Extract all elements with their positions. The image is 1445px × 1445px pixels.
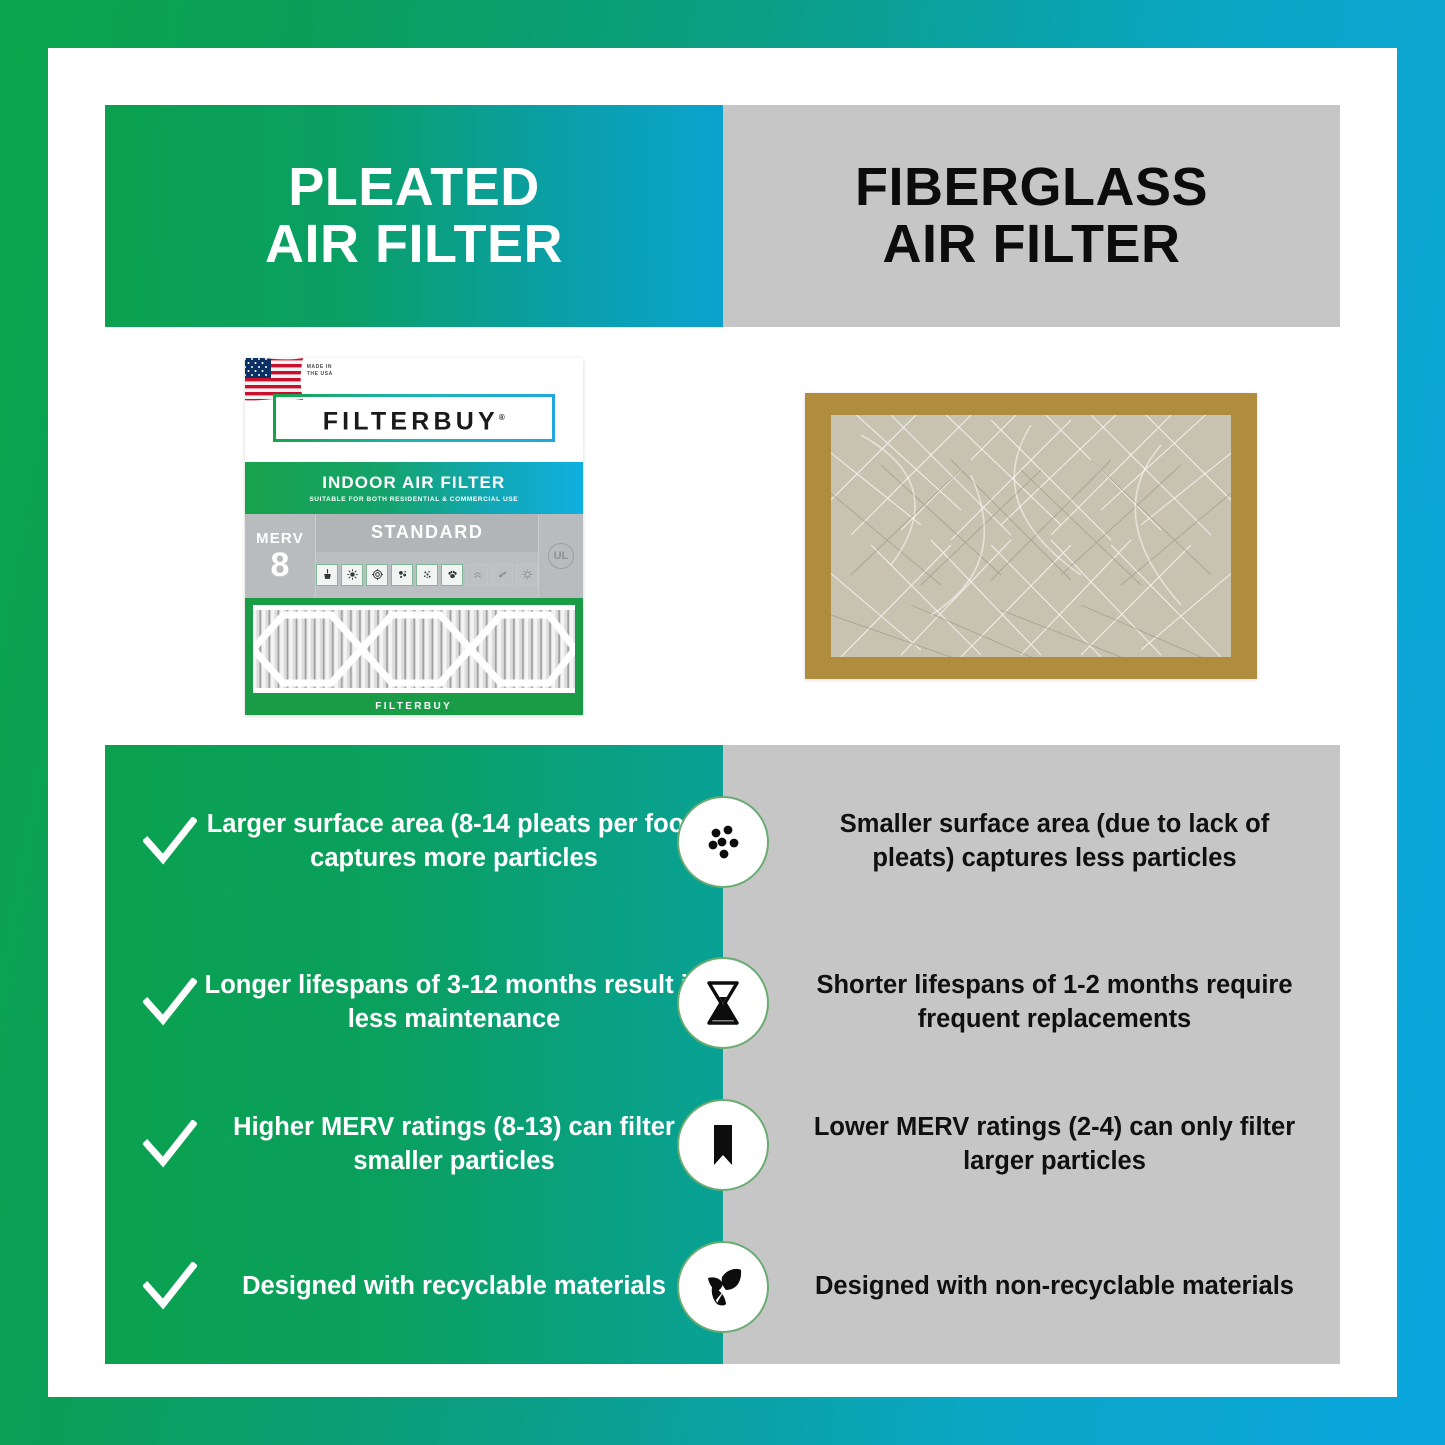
feature-left-text: Designed with recyclable materials (201, 1270, 707, 1304)
header-pleated-line2: AIR FILTER (265, 214, 563, 274)
made-in-line1: MADE IN (307, 364, 333, 372)
infographic-page: PLEATED AIR FILTER FIBERGLASS AIR FILTER (48, 48, 1397, 1397)
feature-left-cell: Longer lifespans of 3-12 months result i… (105, 969, 723, 1036)
feature-row: Longer lifespans of 3-12 months result i… (105, 933, 1340, 1073)
virus-icon (516, 564, 538, 586)
feature-right-cell: Designed with non-recyclable materials (723, 1270, 1340, 1304)
header-pleated-title: PLEATED AIR FILTER (265, 159, 563, 273)
header-band: PLEATED AIR FILTER FIBERGLASS AIR FILTER (105, 105, 1340, 327)
feature-icon-wrap (675, 1239, 771, 1335)
header-fiberglass-line1: FIBERGLASS (855, 157, 1208, 217)
package-spec-section: MERV 8 STANDARD (245, 514, 583, 598)
feature-left-text: Longer lifespans of 3-12 months result i… (201, 969, 707, 1036)
checkmark-icon (139, 978, 201, 1028)
product-images-row: MADE IN THE USA FILTERBUY® INDOOR AIR FI… (105, 327, 1340, 745)
header-fiberglass: FIBERGLASS AIR FILTER (723, 105, 1340, 327)
grade-label: STANDARD (315, 514, 538, 552)
feature-icon-wrap (675, 794, 771, 890)
header-pleated: PLEATED AIR FILTER (105, 105, 723, 327)
feature-left-cell: Designed with recyclable materials (105, 1262, 723, 1312)
merv-label: MERV (256, 530, 304, 547)
header-fiberglass-title: FIBERGLASS AIR FILTER (855, 159, 1208, 273)
indoor-air-filter-band: INDOOR AIR FILTER SUITABLE FOR BOTH RESI… (245, 462, 583, 514)
checkmark-icon (139, 1120, 201, 1170)
merv-rating-block: MERV 8 (245, 514, 315, 598)
particles-icon (677, 796, 769, 888)
feature-right-text: Shorter lifespans of 1-2 months require … (801, 969, 1308, 1036)
bacteria-icon (491, 564, 513, 586)
header-pleated-line1: PLEATED (288, 157, 540, 217)
pleated-filter-package: MADE IN THE USA FILTERBUY® INDOOR AIR FI… (245, 358, 583, 715)
feature-right-text: Designed with non-recyclable materials (801, 1270, 1308, 1304)
made-in-usa-text: MADE IN THE USA (307, 364, 333, 379)
feature-row: Larger surface area (8-14 pleats per foo… (105, 763, 1340, 921)
lint-icon (416, 564, 438, 586)
feature-right-cell: Shorter lifespans of 1-2 months require … (723, 969, 1340, 1036)
header-fiberglass-line2: AIR FILTER (883, 214, 1181, 274)
dust-lint-icon (316, 564, 338, 586)
feature-right-text: Smaller surface area (due to lack of ple… (801, 808, 1308, 875)
made-in-line2: THE USA (307, 371, 333, 379)
band-title: INDOOR AIR FILTER (322, 473, 505, 493)
feature-left-cell: Larger surface area (8-14 pleats per foo… (105, 808, 723, 875)
feature-icon-wrap (675, 1097, 771, 1193)
feature-left-text: Larger surface area (8-14 pleats per foo… (201, 808, 707, 875)
smoke-icon (466, 564, 488, 586)
feature-icon-wrap (675, 955, 771, 1051)
spec-middle: STANDARD (315, 514, 538, 598)
pleated-media (253, 605, 575, 693)
filterbuy-logo-text: FILTERBUY® (276, 397, 552, 442)
feature-left-cell: Higher MERV ratings (8-13) can filter sm… (105, 1111, 723, 1178)
ul-certification-icon: UL (548, 543, 574, 569)
pet-dander-icon (441, 564, 463, 586)
feature-row: Higher MERV ratings (8-13) can filter sm… (105, 1075, 1340, 1215)
fiberglass-media (831, 415, 1231, 657)
certification-block: UL (538, 514, 583, 598)
filterbuy-logo: FILTERBUY® (273, 394, 555, 442)
bookmark-icon (677, 1099, 769, 1191)
feature-rows: Larger surface area (8-14 pleats per foo… (105, 745, 1340, 1364)
fiberglass-product-cell (723, 327, 1341, 745)
comparison-frame: PLEATED AIR FILTER FIBERGLASS AIR FILTER (105, 105, 1340, 1364)
ul-certification-text: UL (554, 550, 569, 562)
pleated-media-section: FILTERBUY (245, 598, 583, 715)
checkmark-icon (139, 817, 201, 867)
dust-mite-debris-icon (341, 564, 363, 586)
pollen-icon (366, 564, 388, 586)
pleated-product-cell: MADE IN THE USA FILTERBUY® INDOOR AIR FI… (105, 327, 723, 745)
filtration-icon-strip (315, 552, 538, 598)
feature-left-text: Higher MERV ratings (8-13) can filter sm… (201, 1111, 707, 1178)
mold-spores-icon (391, 564, 413, 586)
feature-right-cell: Smaller surface area (due to lack of ple… (723, 808, 1340, 875)
hourglass-icon (677, 957, 769, 1049)
band-subtitle: SUITABLE FOR BOTH RESIDENTIAL & COMMERCI… (309, 496, 518, 503)
leaf-recyclable-icon (677, 1241, 769, 1333)
feature-right-cell: Lower MERV ratings (2-4) can only filter… (723, 1111, 1340, 1178)
fiberglass-filter-image (805, 393, 1257, 679)
feature-right-text: Lower MERV ratings (2-4) can only filter… (801, 1111, 1308, 1178)
package-footer-brand: FILTERBUY (245, 701, 583, 712)
merv-value: 8 (271, 548, 290, 582)
package-top-section: MADE IN THE USA FILTERBUY® (245, 358, 583, 462)
feature-row: Designed with recyclable materials Desig… (105, 1217, 1340, 1357)
checkmark-icon (139, 1262, 201, 1312)
